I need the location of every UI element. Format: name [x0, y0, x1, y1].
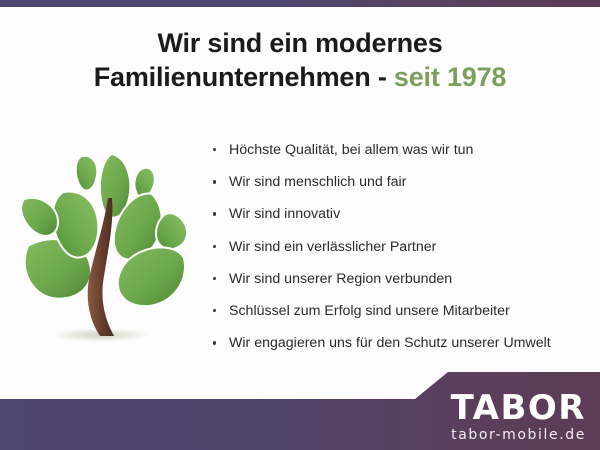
page-title: Wir sind ein modernes Familienunternehme… — [0, 26, 600, 94]
benefits-list: Höchste Qualität, bei allem was wir tun … — [210, 142, 595, 367]
list-item: Schlüssel zum Erfolg sind unsere Mitarbe… — [210, 303, 595, 319]
tree-illustration — [8, 136, 198, 368]
brand-url: tabor-mobile.de — [451, 426, 586, 444]
headline-line-2-plain: Familienunternehmen - — [94, 62, 394, 92]
list-item-label: Schlüssel zum Erfolg sind unsere Mitarbe… — [229, 303, 510, 319]
bullet-dot-icon — [213, 148, 216, 151]
brand-lockup: TABOR tabor-mobile.de — [451, 391, 586, 444]
tree-icon — [8, 136, 198, 368]
brand-name: TABOR — [451, 391, 586, 425]
bullet-dot-icon — [213, 212, 216, 215]
slide-root: Wir sind ein modernes Familienunternehme… — [0, 0, 600, 450]
list-item: Wir engagieren uns für den Schutz unsere… — [210, 335, 595, 351]
list-item: Wir sind ein verlässlicher Partner — [210, 239, 595, 255]
top-accent-bar — [0, 0, 600, 7]
bullet-dot-icon — [213, 277, 216, 280]
headline-line-2: Familienunternehmen - seit 1978 — [0, 60, 600, 94]
list-item: Wir sind menschlich und fair — [210, 174, 595, 190]
headline-accent-seit-1978: seit 1978 — [394, 62, 506, 92]
list-item-label: Wir engagieren uns für den Schutz unsere… — [229, 335, 551, 351]
list-item-label: Wir sind innovativ — [229, 206, 340, 222]
bullet-dot-icon — [213, 309, 216, 312]
bullet-dot-icon — [213, 341, 216, 344]
headline-line-1: Wir sind ein modernes — [157, 28, 442, 58]
list-item-label: Wir sind ein verlässlicher Partner — [229, 239, 436, 255]
list-item: Wir sind innovativ — [210, 206, 595, 222]
bullet-dot-icon — [213, 245, 216, 248]
list-item-label: Wir sind menschlich und fair — [229, 174, 406, 190]
list-item: Höchste Qualität, bei allem was wir tun — [210, 142, 595, 158]
list-item-label: Wir sind unserer Region verbunden — [229, 271, 452, 287]
bullet-dot-icon — [213, 180, 216, 183]
brand-bar: TABOR tabor-mobile.de — [0, 372, 600, 450]
list-item-label: Höchste Qualität, bei allem was wir tun — [229, 142, 473, 158]
list-item: Wir sind unserer Region verbunden — [210, 271, 595, 287]
